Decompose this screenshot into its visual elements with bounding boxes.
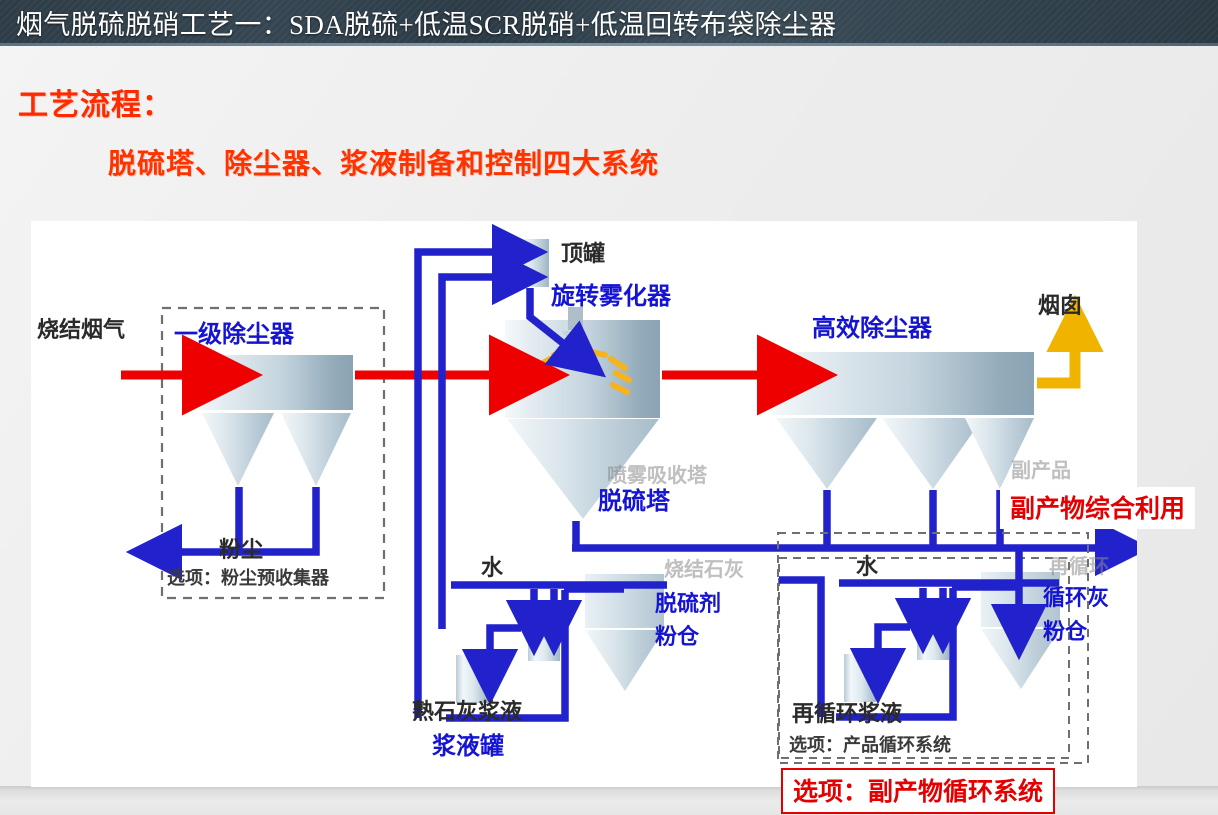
label-option-pre-collector: 选项：粉尘预收集器 — [167, 569, 329, 589]
top-tank-vessel — [510, 239, 549, 287]
label-water-left: 水 — [481, 557, 503, 582]
label-sintered-lime-faded: 烧结石灰 — [664, 558, 744, 580]
label-high-efficiency-collector: 高效除尘器 — [812, 315, 932, 342]
process-flow-diagram-panel: 烧结烟气 一级除尘器 粉尘 选项：粉尘预收集器 顶罐 旋转雾化器 喷雾吸收塔 脱… — [31, 221, 1137, 787]
label-recycle-ash-silo-line1: 循环灰 — [1043, 587, 1109, 612]
label-spray-absorber-faded: 喷雾吸收塔 — [607, 464, 707, 486]
clean-gas-stack-arrow — [1037, 341, 1075, 383]
label-top-tank: 顶罐 — [561, 243, 605, 268]
page-subtitle: 脱硫塔、除尘器、浆液制备和控制四大系统 — [108, 142, 659, 182]
callout-option-byproduct-recycle: 选项：副产物循环系统 — [781, 768, 1055, 814]
label-chimney: 烟囱 — [1038, 295, 1082, 320]
label-slurry-tank: 浆液罐 — [432, 733, 504, 760]
label-byproduct-faded: 副产品 — [1011, 459, 1071, 481]
label-hydrated-lime-slurry: 熟石灰浆液 — [412, 701, 522, 726]
label-dust: 粉尘 — [219, 539, 263, 564]
label-recirculated-slurry: 再循环浆液 — [792, 703, 902, 728]
slide-title: 烟气脱硫脱硝工艺一：SDA脱硫+低温SCR脱硝+低温回转布袋除尘器 — [16, 3, 836, 42]
callout-byproduct-utilization: 副产物综合利用 — [1000, 487, 1195, 529]
slide-title-bar: 烟气脱硫脱硝工艺一：SDA脱硫+低温SCR脱硝+低温回转布袋除尘器 — [0, 0, 1218, 46]
label-recycle-faded: 再循环 — [1049, 555, 1109, 577]
label-primary-dust-collector: 一级除尘器 — [174, 321, 294, 348]
label-option-product-recycle: 选项：产品循环系统 — [789, 736, 951, 756]
high-efficiency-collector-vessel — [772, 352, 1034, 489]
primary-dust-collector-vessel — [198, 355, 353, 486]
label-rotary-atomizer: 旋转雾化器 — [551, 283, 671, 310]
label-water-right: 水 — [856, 556, 878, 581]
label-desulfurizer-silo-line2: 粉仓 — [655, 626, 699, 651]
label-inlet-gas: 烧结烟气 — [37, 319, 125, 344]
page-title: 工艺流程： — [18, 80, 173, 124]
label-desulfurization-tower: 脱硫塔 — [598, 488, 670, 515]
label-recycle-ash-silo-line2: 粉仓 — [1043, 621, 1087, 646]
label-desulfurizer-silo-line1: 脱硫剂 — [655, 593, 721, 618]
